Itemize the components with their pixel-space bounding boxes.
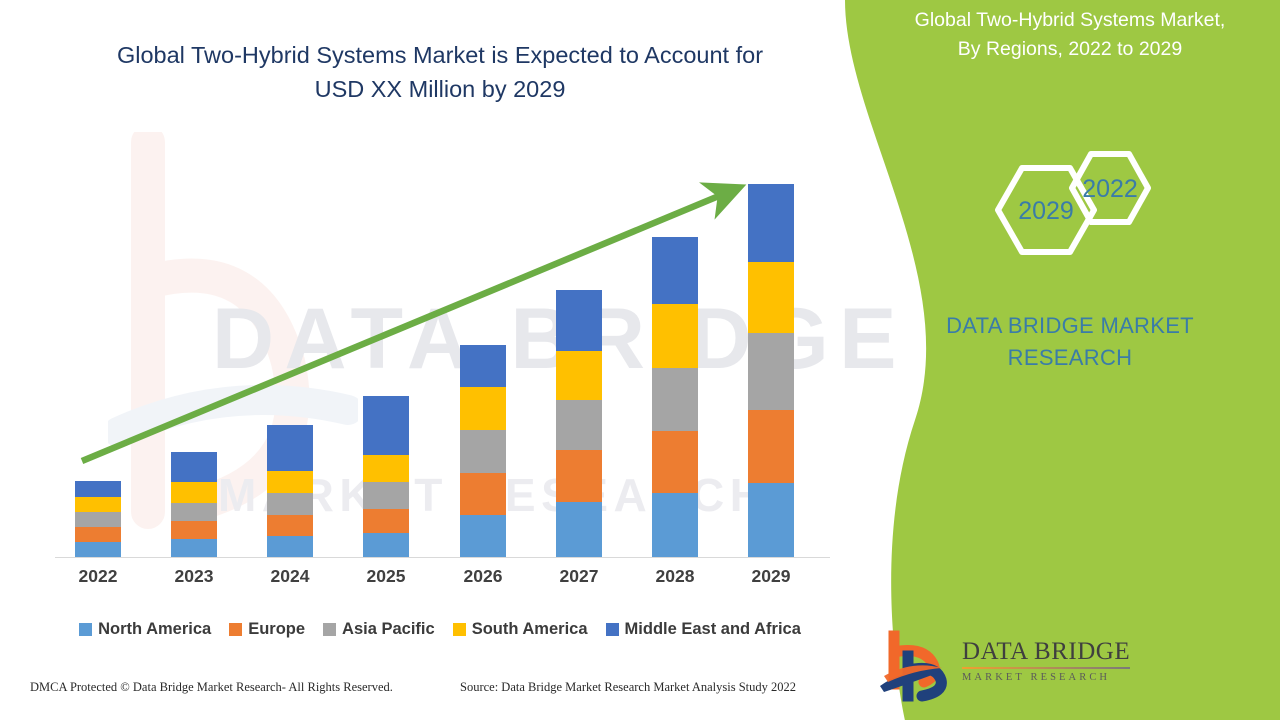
bar-segment <box>556 351 602 400</box>
chart-panel: Global Two-Hybrid Systems Market is Expe… <box>0 0 880 720</box>
bar-segment <box>75 512 121 527</box>
bar-segment <box>75 481 121 497</box>
legend-label: Asia Pacific <box>342 620 435 639</box>
bar-column-2026[interactable] <box>460 345 506 557</box>
side-panel-content: Global Two-Hybrid Systems Market, By Reg… <box>860 0 1280 720</box>
x-axis-label-2027: 2027 <box>534 566 624 587</box>
bar-segment <box>652 237 698 304</box>
bar-segment <box>171 452 217 482</box>
x-axis-label-2022: 2022 <box>53 566 143 587</box>
footer: DMCA Protected © Data Bridge Market Rese… <box>0 680 880 706</box>
bar-segment <box>75 527 121 542</box>
bar-segment <box>460 515 506 557</box>
legend-item-north-america[interactable]: North America <box>79 620 211 639</box>
logo-name: DATA BRIDGE <box>962 638 1142 666</box>
bar-segment <box>75 542 121 557</box>
chart-legend: North AmericaEuropeAsia PacificSouth Ame… <box>0 616 880 642</box>
bar-segment <box>652 431 698 493</box>
brand-name: DATA BRIDGE MARKET RESEARCH <box>870 310 1270 374</box>
year-hexagons: 2029 2022 <box>960 130 1180 290</box>
bar-segment <box>460 430 506 473</box>
logo-tagline: MARKET RESEARCH <box>962 672 1142 683</box>
logo-wordmark: DATA BRIDGE MARKET RESEARCH <box>962 638 1142 683</box>
bar-segment <box>460 387 506 430</box>
legend-swatch-icon <box>323 623 336 636</box>
bar-segment <box>556 502 602 557</box>
side-panel-title: Global Two-Hybrid Systems Market, By Reg… <box>870 6 1270 64</box>
bar-segment <box>748 483 794 557</box>
bar-segment <box>363 482 409 509</box>
brand-name-line-2: RESEARCH <box>1008 345 1133 370</box>
bar-segment <box>460 345 506 387</box>
bar-segment <box>363 455 409 482</box>
x-axis-label-2029: 2029 <box>726 566 816 587</box>
legend-item-middle-east-and-africa[interactable]: Middle East and Africa <box>606 620 801 639</box>
data-bridge-logo-icon <box>878 630 954 702</box>
hexagon-label-2029: 2029 <box>1018 197 1074 225</box>
bar-column-2025[interactable] <box>363 396 409 557</box>
x-axis-label-2026: 2026 <box>438 566 528 587</box>
legend-swatch-icon <box>229 623 242 636</box>
x-axis-label-2028: 2028 <box>630 566 720 587</box>
bar-segment <box>267 471 313 493</box>
bar-column-2029[interactable] <box>748 184 794 557</box>
bar-column-2028[interactable] <box>652 237 698 557</box>
bar-segment <box>556 450 602 502</box>
legend-label: North America <box>98 620 211 639</box>
stacked-bar-series <box>0 0 880 557</box>
bar-segment <box>556 290 602 351</box>
bar-segment <box>652 368 698 431</box>
bar-segment <box>460 473 506 515</box>
bar-segment <box>748 184 794 262</box>
bar-column-2024[interactable] <box>267 425 313 557</box>
legend-label: Middle East and Africa <box>625 620 801 639</box>
x-axis-line <box>55 557 830 558</box>
legend-item-south-america[interactable]: South America <box>453 620 588 639</box>
bar-segment <box>652 304 698 368</box>
x-axis-label-2024: 2024 <box>245 566 335 587</box>
bar-segment <box>652 493 698 557</box>
legend-swatch-icon <box>606 623 619 636</box>
legend-label: Europe <box>248 620 305 639</box>
brand-name-line-1: DATA BRIDGE MARKET <box>946 313 1194 338</box>
side-panel-title-line-1: Global Two-Hybrid Systems Market, <box>915 9 1226 31</box>
bar-segment <box>267 515 313 536</box>
legend-item-europe[interactable]: Europe <box>229 620 305 639</box>
footer-source: Source: Data Bridge Market Research Mark… <box>460 680 796 695</box>
legend-item-asia-pacific[interactable]: Asia Pacific <box>323 620 435 639</box>
legend-swatch-icon <box>79 623 92 636</box>
bar-segment <box>556 400 602 450</box>
footer-copyright: DMCA Protected © Data Bridge Market Rese… <box>30 680 393 695</box>
bar-segment <box>748 410 794 483</box>
side-panel-title-line-2: By Regions, 2022 to 2029 <box>958 38 1182 60</box>
company-logo: DATA BRIDGE MARKET RESEARCH <box>878 630 1138 702</box>
bar-segment <box>75 497 121 512</box>
bar-segment <box>748 333 794 410</box>
bar-segment <box>171 482 217 503</box>
x-axis-label-2025: 2025 <box>341 566 431 587</box>
bar-segment <box>171 539 217 557</box>
bar-segment <box>267 493 313 515</box>
bar-segment <box>363 396 409 455</box>
x-axis-labels: 20222023202420252026202720282029 <box>0 566 880 596</box>
bar-segment <box>267 425 313 471</box>
legend-swatch-icon <box>453 623 466 636</box>
bar-segment <box>171 521 217 539</box>
bar-column-2027[interactable] <box>556 290 602 557</box>
logo-divider <box>962 667 1130 669</box>
bar-column-2022[interactable] <box>75 481 121 557</box>
legend-label: South America <box>472 620 588 639</box>
bar-segment <box>363 533 409 557</box>
bar-column-2023[interactable] <box>171 452 217 557</box>
infographic-root: DATA BRIDGE MARKET RESEARCH Global Two-H… <box>0 0 1280 720</box>
bar-segment <box>267 536 313 557</box>
bar-segment <box>363 509 409 533</box>
hexagon-label-2022: 2022 <box>1082 175 1138 203</box>
x-axis-label-2023: 2023 <box>149 566 239 587</box>
bar-segment <box>748 262 794 333</box>
bar-segment <box>171 503 217 521</box>
